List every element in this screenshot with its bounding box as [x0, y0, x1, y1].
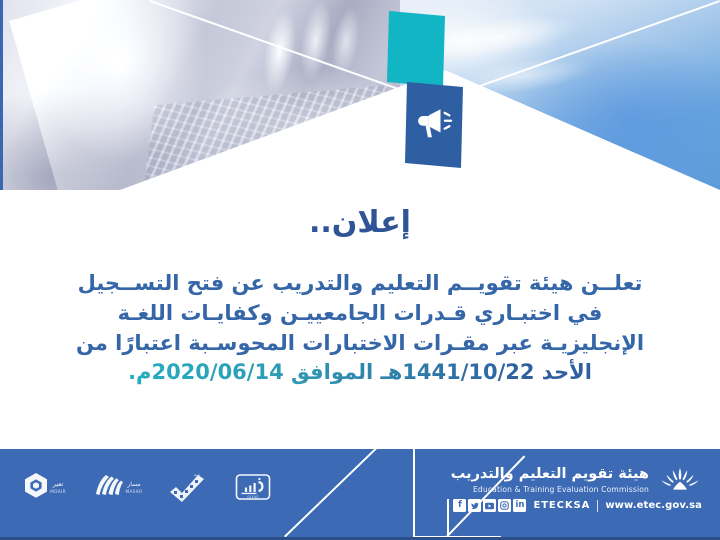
brand-names: هيئة تقويم التعليم والتدريب Education & … [451, 466, 649, 493]
contact-divider [597, 500, 598, 512]
masar-logo: مسار MASAR [93, 472, 145, 502]
qiyas-logo: QIYAS [235, 472, 271, 502]
youtube-play-glyph [485, 502, 494, 510]
svg-text:تعير: تعير [52, 480, 64, 488]
page-title: إعلان.. [0, 206, 720, 239]
facebook-icon[interactable]: f [453, 499, 466, 512]
announcement-poster: إعلان.. تعلــن هيئة تقويــم التعليم والت… [0, 0, 720, 540]
body-line-4-dates: الأحد 1441/10/22هـ الموافق 2020/06/14م. [60, 358, 660, 388]
social-handle: ETECKSA [533, 500, 590, 511]
twitter-icon[interactable] [468, 499, 481, 512]
linkedin-icon[interactable]: in [513, 499, 526, 512]
svg-text:MASAR: MASAR [126, 489, 143, 494]
teal-accent-tile [387, 11, 445, 87]
hero-banner [0, 0, 720, 190]
svg-text:مسار: مسار [126, 481, 140, 488]
brand-name-ar: هيئة تقويم التعليم والتدريب [451, 466, 649, 483]
social-icons: f [453, 499, 526, 512]
body-line-3: الإنجليزيـة عبر مقـرات الاختبارات المحوس… [60, 329, 660, 359]
body-line-2: في اختبـاري قـدرات الجامعييـن وكفايـات ا… [60, 299, 660, 329]
instagram-icon[interactable] [498, 499, 511, 512]
svg-text:QIYAS: QIYAS [247, 495, 258, 499]
youtube-icon[interactable] [483, 499, 496, 512]
footer-decor-line-4 [413, 449, 415, 537]
megaphone-icon [418, 106, 454, 140]
hero-left-edge [0, 0, 3, 190]
etec-palm-logo [658, 465, 702, 495]
neeba-logo: نبيه [168, 471, 212, 503]
partner-logos: تعير MOAIR مسار MASAR [24, 471, 271, 503]
megaphone-tile [405, 82, 463, 168]
brand-name-row: هيئة تقويم التعليم والتدريب Education & … [451, 465, 702, 495]
svg-text:MOAIR: MOAIR [50, 489, 66, 494]
website-url[interactable]: www.etec.gov.sa [605, 500, 702, 511]
etec-brand-block: هيئة تقويم التعليم والتدريب Education & … [451, 465, 702, 512]
instagram-camera-glyph [500, 501, 509, 510]
footer-decor-line-1 [284, 447, 377, 537]
footer-top-rule [0, 447, 720, 449]
footer-decor-line-5 [447, 499, 449, 538]
svg-text:نبيه: نبيه [194, 473, 201, 478]
announcement-content: إعلان.. تعلــن هيئة تقويــم التعليم والت… [0, 192, 720, 440]
footer-bar: تعير MOAIR مسار MASAR [0, 447, 720, 540]
taeer-logo: تعير MOAIR [24, 472, 70, 502]
brand-contact-row: f [453, 499, 702, 512]
body-line-1: تعلــن هيئة تقويــم التعليم والتدريب عن … [60, 269, 660, 299]
twitter-bird-glyph [471, 502, 479, 510]
announcement-body: تعلــن هيئة تقويــم التعليم والتدريب عن … [60, 269, 660, 388]
brand-name-en: Education & Training Evaluation Commissi… [451, 485, 649, 494]
